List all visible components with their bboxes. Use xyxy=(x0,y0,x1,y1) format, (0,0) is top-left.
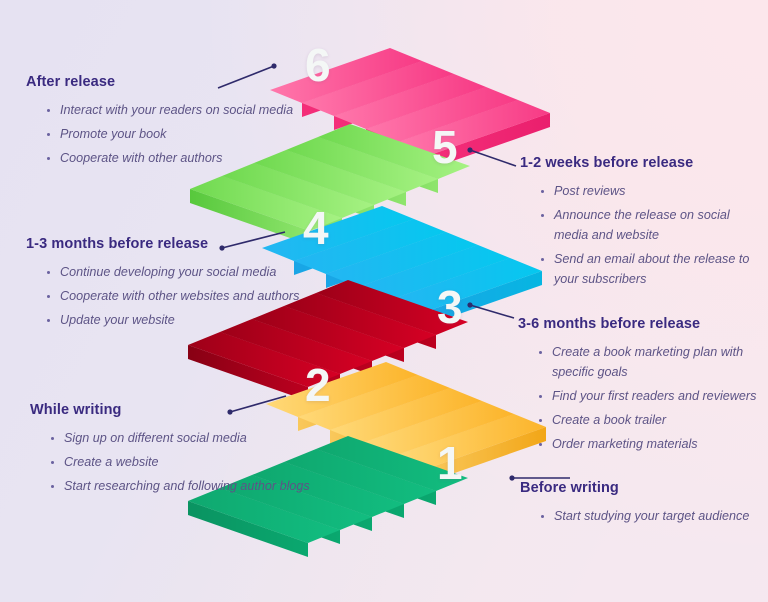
block-title: Before writing xyxy=(520,480,760,497)
text-block-before-writing: Before writing Start studying your targe… xyxy=(520,480,760,531)
list-item: Start researching and following author b… xyxy=(48,477,330,497)
list-item: Promote your book xyxy=(44,125,316,145)
text-block-1-3-months-before-release: 1-3 months before release Continue devel… xyxy=(26,236,326,335)
text-block-1-2-weeks-before-release: 1-2 weeks before release Post reviewsAnn… xyxy=(520,155,756,294)
block-title: 1-3 months before release xyxy=(26,236,326,253)
infographic-stage: 6 5 4 3 2 1 After release Interact with … xyxy=(0,0,768,602)
text-block-while-writing: While writing Sign up on different socia… xyxy=(30,402,330,501)
list-item: Send an email about the release to your … xyxy=(538,250,756,290)
list-item: Create a website xyxy=(48,453,330,473)
list-item: Find your first readers and reviewers xyxy=(536,387,758,407)
text-block-after-release: After release Interact with your readers… xyxy=(26,74,316,173)
block-title: While writing xyxy=(30,402,330,419)
list-item: Sign up on different social media xyxy=(48,429,330,449)
block-list: Sign up on different social mediaCreate … xyxy=(48,429,330,497)
block-list: Start studying your target audience xyxy=(538,507,760,527)
list-item: Post reviews xyxy=(538,182,756,202)
block-list: Create a book marketing plan with specif… xyxy=(536,343,758,454)
block-title: 1-2 weeks before release xyxy=(520,155,756,172)
list-item: Interact with your readers on social med… xyxy=(44,101,316,121)
block-title: 3-6 months before release xyxy=(518,316,758,333)
block-list: Continue developing your social mediaCoo… xyxy=(44,263,326,331)
list-item: Order marketing materials xyxy=(536,435,758,455)
list-item: Create a book marketing plan with specif… xyxy=(536,343,758,383)
block-list: Interact with your readers on social med… xyxy=(44,101,316,169)
list-item: Update your website xyxy=(44,311,326,331)
block-title: After release xyxy=(26,74,316,91)
list-item: Create a book trailer xyxy=(536,411,758,431)
list-item: Cooperate with other authors xyxy=(44,149,316,169)
list-item: Continue developing your social media xyxy=(44,263,326,283)
block-list: Post reviewsAnnounce the release on soci… xyxy=(538,182,756,289)
list-item: Announce the release on social media and… xyxy=(538,206,756,246)
text-block-3-6-months-before-release: 3-6 months before release Create a book … xyxy=(518,316,758,459)
list-item: Cooperate with other websites and author… xyxy=(44,287,326,307)
list-item: Start studying your target audience xyxy=(538,507,760,527)
